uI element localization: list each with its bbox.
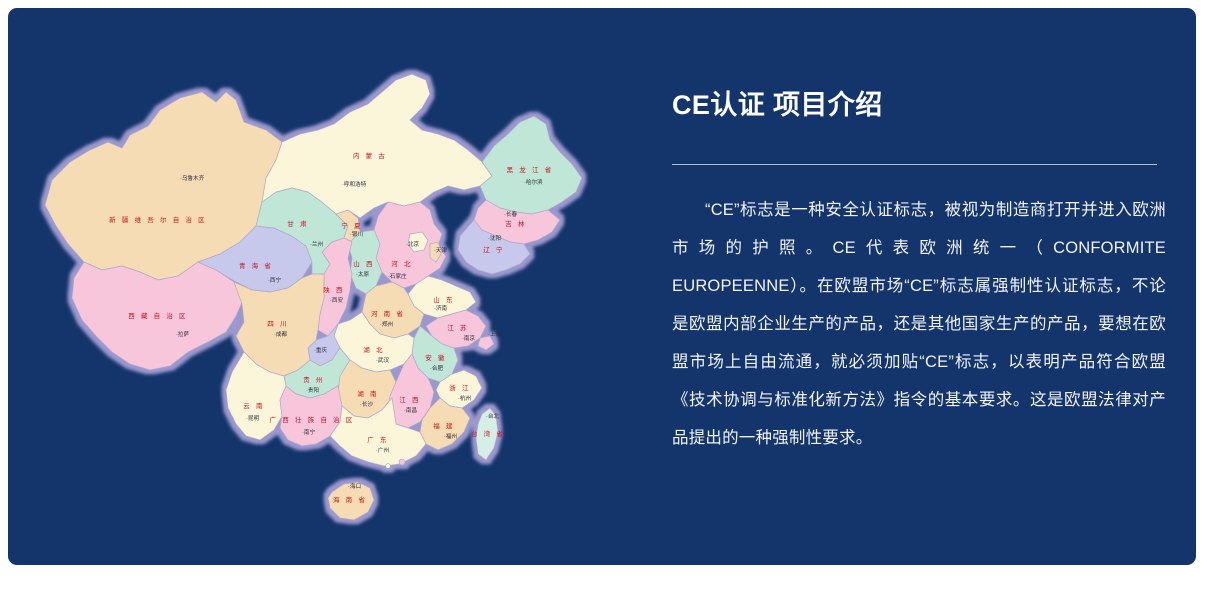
capital-shanghai: ·上海 (488, 330, 501, 338)
capital-kunming: ·昆明 (246, 415, 259, 422)
capital-shenyang: ·沈阳 (488, 234, 501, 242)
capital-taiyuan: ·太原 (356, 270, 369, 278)
label-jilin: 吉 林 (505, 219, 526, 228)
province-shanghai (478, 336, 494, 350)
capital-nanchang: ·南昌 (404, 406, 417, 414)
china-map: 新 疆 维 吾 尔 自 治 区 西 藏 自 治 区 青 海 省 甘 肃 内 蒙 … (30, 30, 640, 550)
label-zhejiang: 浙 江 (449, 383, 470, 392)
china-landmass (45, 74, 582, 520)
capital-lanzhou: ·兰州 (310, 240, 323, 248)
china-map-svg: 新 疆 维 吾 尔 自 治 区 西 藏 自 治 区 青 海 省 甘 肃 内 蒙 … (30, 30, 640, 550)
capital-zhengzhou: ·郑州 (380, 320, 393, 328)
capital-chengdu: ·成都 (274, 330, 287, 338)
capital-yinchuan: ·银川 (350, 230, 363, 238)
label-gansu: 甘 肃 (287, 219, 308, 228)
label-ningxia: 宁 夏 (341, 221, 362, 230)
label-taiwan: 台 湾 省 (471, 429, 505, 438)
capital-nanning: ·南宁 (302, 428, 315, 436)
label-liaoning: 辽 宁 (483, 245, 504, 254)
capital-guiyang: ·贵阳 (306, 386, 319, 394)
label-anhui: 安 徽 (425, 353, 446, 362)
label-shaanxi: 陕 西 (323, 285, 344, 294)
capital-shijiazhuang: ·石家庄 (388, 272, 407, 280)
label-henan: 河 南 省 (371, 309, 405, 318)
capital-hangzhou: ·杭州 (458, 394, 471, 402)
label-neimenggu: 内 蒙 古 (353, 151, 387, 160)
capital-chongqing: ·重庆 (314, 346, 327, 354)
capital-beijing: ·北京 (406, 240, 419, 248)
label-hubei: 湖 北 (363, 345, 384, 354)
label-fujian: 福 建 (433, 421, 454, 430)
label-guangdong: 广 东 (367, 435, 388, 444)
label-xizang: 西 藏 自 治 区 (128, 311, 188, 320)
title-divider (672, 164, 1157, 165)
page-root: 新 疆 维 吾 尔 自 治 区 西 藏 自 治 区 青 海 省 甘 肃 内 蒙 … (0, 0, 1207, 607)
label-qinghai: 青 海 省 (239, 261, 273, 270)
capital-haikou: ·海口 (348, 482, 361, 490)
capital-taibei: ·台北 (486, 412, 499, 420)
capital-changchun: ·长春 (504, 210, 517, 218)
label-sichuan: 四 川 (267, 320, 288, 328)
province-heilongjiang (480, 116, 582, 214)
content-panel: 新 疆 维 吾 尔 自 治 区 西 藏 自 治 区 青 海 省 甘 肃 内 蒙 … (8, 8, 1196, 565)
region-hongkong (399, 459, 405, 465)
label-guangxi: 广 西 壮 族 自 治 区 (270, 415, 355, 424)
label-hainan: 海 南 省 (333, 495, 367, 504)
intro-paragraph: “CE”标志是一种安全认证标志，被视为制造商打开并进入欧洲市场的护照。CE代表欧… (672, 191, 1166, 457)
capital-fuzhou: ·福州 (444, 432, 457, 440)
page-title: CE认证 项目介绍 (672, 88, 1164, 122)
label-shandong: 山 东 (433, 295, 454, 304)
region-macau (386, 464, 391, 469)
capital-lasa: ·拉萨 (176, 330, 189, 338)
label-hebei: 河 北 (391, 260, 412, 268)
label-xinjiang: 新 疆 维 吾 尔 自 治 区 (109, 215, 207, 224)
capital-xining: ·西宁 (268, 276, 281, 284)
capital-haerbin: ·哈尔滨 (524, 178, 543, 186)
capital-nanjing: ·南京 (462, 334, 475, 342)
capital-wuhan: ·武汉 (376, 356, 389, 364)
label-jiangsu: 江 苏 (447, 323, 468, 332)
capital-changsha: ·长沙 (360, 400, 373, 408)
capital-xian: ·西安 (330, 296, 343, 304)
capital-tianjin: ·天津 (434, 247, 447, 254)
label-guizhou: 贵 州 (303, 375, 324, 384)
capital-jinan: ·济南 (434, 304, 447, 312)
capital-huhehaote: ·呼和浩特 (342, 180, 367, 188)
label-hunan: 湖 南 (357, 389, 378, 398)
capital-hefei: ·合肥 (430, 364, 443, 372)
label-yunnan: 云 南 (243, 401, 264, 410)
capital-wulumuqi: ·乌鲁木齐 (180, 174, 205, 182)
label-jiangxi: 江 西 (399, 396, 420, 404)
label-heilongjiang: 黑 龙 江 省 (507, 165, 554, 174)
label-shanxi: 山 西 (353, 259, 374, 268)
capital-guangzhou: ·广州 (376, 446, 389, 454)
text-content: CE认证 项目介绍 “CE”标志是一种安全认证标志，被视为制造商打开并进入欧洲市… (664, 88, 1164, 457)
